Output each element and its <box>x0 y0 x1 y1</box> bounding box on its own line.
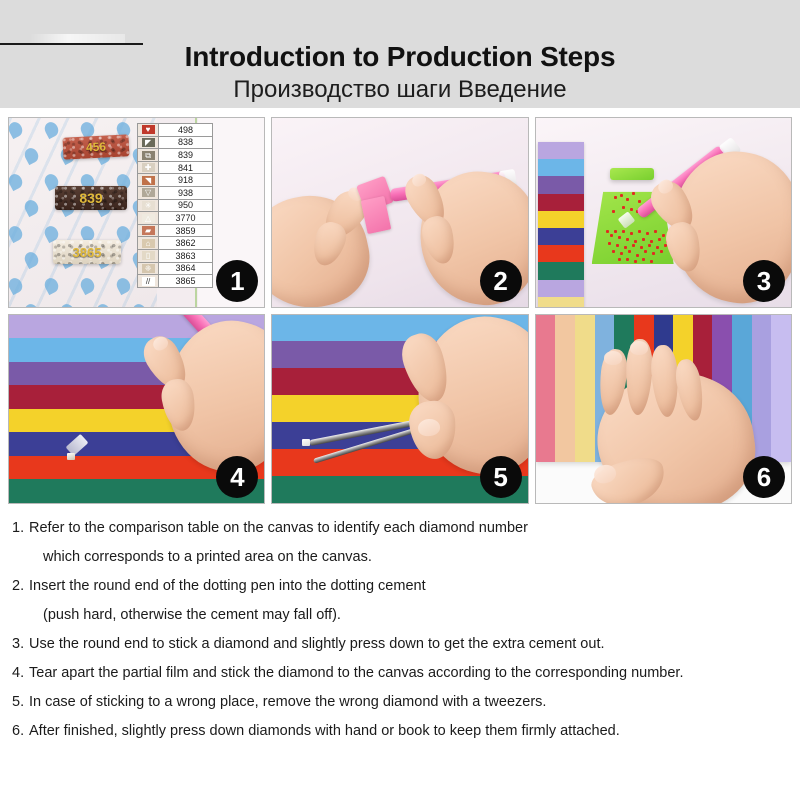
step-panel-2[interactable]: 2 <box>271 117 528 308</box>
red-diamond <box>606 230 609 233</box>
diamond-bag-3-label: 3865 <box>73 245 102 260</box>
red-diamond <box>620 194 623 197</box>
color-chart-row: ◥918 <box>137 174 212 187</box>
canvas-stripe <box>555 315 575 462</box>
canvas-stripe <box>752 315 772 462</box>
instruction-item: 2.Insert the round end of the dotting pe… <box>12 572 788 630</box>
instruction-number: 6. <box>12 717 29 746</box>
striped-canvas-small <box>538 142 584 307</box>
finger-2-nail <box>630 341 648 355</box>
instruction-line-1: Insert the round end of the dotting pen … <box>29 572 426 601</box>
color-symbol-cell: ▯ <box>137 249 159 262</box>
diamond-tray-lip <box>610 168 654 180</box>
step-panel-1[interactable]: 456 839 3865 ♥498◤838⧉839✚841◥918▽938✳95… <box>8 117 265 308</box>
instruction-text: In case of sticking to a wrong place, re… <box>29 688 546 717</box>
color-number-cell: 839 <box>159 149 212 162</box>
color-swatch-icon: ✳ <box>142 201 155 210</box>
diamond-bag-3: 3865 <box>53 240 121 264</box>
red-diamond <box>616 244 619 247</box>
page-title-russian: Производство шаги Введение <box>0 75 800 105</box>
color-chart-row: △3770 <box>137 212 212 225</box>
red-diamond <box>634 240 637 243</box>
red-diamond <box>618 258 621 261</box>
red-diamond <box>626 238 629 241</box>
step-panel-5[interactable]: 5 <box>271 314 528 505</box>
film-watermark-icon <box>94 302 113 307</box>
film-watermark-icon <box>9 172 25 191</box>
color-swatch-icon: ❈ <box>142 264 155 273</box>
header-smudge-artifact <box>30 34 125 43</box>
red-diamond <box>620 252 623 255</box>
color-chart-row: ⌂3862 <box>137 237 212 250</box>
red-diamond <box>658 238 661 241</box>
film-watermark-icon <box>42 276 61 295</box>
color-number-cell: 3864 <box>159 262 212 275</box>
red-diamond <box>638 230 641 233</box>
step-badge-1: 1 <box>216 260 258 302</box>
red-diamond <box>632 192 635 195</box>
red-diamond <box>622 206 625 209</box>
red-diamond <box>608 242 611 245</box>
film-watermark-icon <box>9 120 25 139</box>
film-watermark-icon <box>130 302 149 307</box>
film-watermark-icon <box>22 146 41 165</box>
red-diamond <box>626 258 629 261</box>
color-symbol-cell: ▰ <box>137 224 159 237</box>
film-watermark-icon <box>9 276 25 295</box>
color-number-cell: 838 <box>159 136 212 149</box>
canvas-stripe <box>538 280 584 297</box>
color-number-cell: 3863 <box>159 249 212 262</box>
red-diamond <box>614 230 617 233</box>
film-watermark-icon <box>22 198 41 217</box>
color-swatch-icon: ⌂ <box>142 239 155 248</box>
color-chart-row: ▯3863 <box>137 249 212 262</box>
color-chart-row: ✚841 <box>137 161 212 174</box>
color-chart-row: ▰3859 <box>137 224 212 237</box>
diamond-bag-2: 839 <box>55 186 127 210</box>
red-diamond <box>630 232 633 235</box>
instruction-text: Use the round end to stick a diamond and… <box>29 630 605 659</box>
red-diamond <box>624 246 627 249</box>
canvas-stripe <box>538 211 584 228</box>
color-swatch-icon: ⧉ <box>142 151 155 160</box>
canvas-stripe <box>538 297 584 307</box>
red-diamond <box>636 254 639 257</box>
red-diamond <box>610 234 613 237</box>
step-badge-5: 5 <box>480 456 522 498</box>
instruction-line-1: Refer to the comparison table on the can… <box>29 514 528 543</box>
color-symbol-cell: ⌂ <box>137 237 159 250</box>
instruction-item: 1.Refer to the comparison table on the c… <box>12 514 788 572</box>
color-symbol-cell: ◤ <box>137 136 159 149</box>
film-watermark-icon <box>114 276 133 295</box>
color-symbol-cell: ▽ <box>137 186 159 199</box>
instruction-number: 1. <box>12 514 29 543</box>
instruction-number: 4. <box>12 659 29 688</box>
red-diamond <box>642 258 645 261</box>
color-symbol-cell: ✳ <box>137 199 159 212</box>
instruction-item: 4.Tear apart the partial film and stick … <box>12 659 788 688</box>
red-diamond <box>630 208 633 211</box>
color-chart-row: ▽938 <box>137 186 212 199</box>
red-diamond <box>626 198 629 201</box>
red-diamond <box>650 240 653 243</box>
color-swatch-icon: ▰ <box>142 226 155 235</box>
canvas-stripe <box>575 315 595 462</box>
canvas-stripe <box>538 176 584 193</box>
instruction-line-1: After finished, slightly press down diam… <box>29 717 620 746</box>
color-number-cell: 3770 <box>159 212 212 225</box>
instruction-text: Insert the round end of the dotting pen … <box>29 572 426 630</box>
red-diamond <box>612 250 615 253</box>
color-number-cell: 950 <box>159 199 212 212</box>
instruction-number: 2. <box>12 572 29 601</box>
red-diamond <box>656 246 659 249</box>
instruction-text: Refer to the comparison table on the can… <box>29 514 528 572</box>
red-diamond <box>642 238 645 241</box>
instructions-list: 1.Refer to the comparison table on the c… <box>0 504 800 746</box>
red-diamond <box>618 236 621 239</box>
color-number-cell: 918 <box>159 174 212 187</box>
instruction-line-1: In case of sticking to a wrong place, re… <box>29 688 546 717</box>
red-diamond <box>634 260 637 263</box>
step-badge-3: 3 <box>743 260 785 302</box>
red-diamond <box>612 210 615 213</box>
diamond-bag-2-label: 839 <box>79 190 102 206</box>
film-watermark-icon <box>22 302 41 307</box>
color-symbol-cell: △ <box>137 212 159 225</box>
color-chart-row: //3865 <box>137 275 212 288</box>
header-rule-artifact <box>0 43 143 45</box>
finger-1-nail <box>604 351 622 365</box>
color-number-cell: 3859 <box>159 224 212 237</box>
color-symbol-cell: ❈ <box>137 262 159 275</box>
color-swatch-icon: ◥ <box>142 176 155 185</box>
color-number-cell: 3865 <box>159 275 212 288</box>
color-number-cell: 841 <box>159 161 212 174</box>
red-diamond <box>640 246 643 249</box>
canvas-stripe <box>538 262 584 279</box>
instruction-line-1: Use the round end to stick a diamond and… <box>29 630 605 659</box>
canvas-stripe <box>538 194 584 211</box>
instruction-line-2: (push hard, otherwise the cement may fal… <box>29 601 426 630</box>
color-chart-row: ❈3864 <box>137 262 212 275</box>
film-watermark-icon <box>9 224 25 243</box>
color-swatch-icon: △ <box>142 214 155 223</box>
instruction-item: 3.Use the round end to stick a diamond a… <box>12 630 788 659</box>
red-diamond <box>660 250 663 253</box>
step-panel-4[interactable]: 4 <box>8 314 265 505</box>
canvas-stripe <box>536 315 556 462</box>
instruction-line-1: Tear apart the partial film and stick th… <box>29 659 683 688</box>
instruction-number: 5. <box>12 688 29 717</box>
instruction-number: 3. <box>12 630 29 659</box>
instruction-text: After finished, slightly press down diam… <box>29 717 620 746</box>
color-swatch-icon: ◤ <box>142 138 155 147</box>
canvas-stripe <box>538 159 584 176</box>
diamond-bag-1: 456 <box>62 134 129 159</box>
instruction-text: Tear apart the partial film and stick th… <box>29 659 683 688</box>
color-swatch-icon: ✚ <box>142 163 155 172</box>
red-diamond <box>628 250 631 253</box>
diamond-held-by-tweezers <box>302 439 310 446</box>
step-panel-3[interactable]: 3 <box>535 117 792 308</box>
red-diamond <box>652 252 655 255</box>
color-number-cell: 3862 <box>159 237 212 250</box>
canvas-stripe <box>771 315 791 462</box>
red-diamond <box>614 196 617 199</box>
red-diamond <box>632 244 635 247</box>
red-diamond <box>654 230 657 233</box>
color-swatch-icon: // <box>142 277 155 286</box>
color-number-cell: 498 <box>159 124 212 137</box>
color-chart-row: ◤838 <box>137 136 212 149</box>
diamond-on-tip <box>67 453 75 460</box>
film-watermark-icon <box>42 120 61 139</box>
step-badge-6: 6 <box>743 456 785 498</box>
film-watermark-icon <box>78 276 97 295</box>
color-swatch-icon: ▯ <box>142 251 155 260</box>
step-badge-2: 2 <box>480 260 522 302</box>
red-diamond <box>662 234 665 237</box>
step-panel-6[interactable]: 6 <box>535 314 792 505</box>
canvas-stripe <box>538 228 584 245</box>
color-swatch-icon: ▽ <box>142 188 155 197</box>
page-header: Introduction to Production Steps Произво… <box>0 0 800 108</box>
instruction-item: 5.In case of sticking to a wrong place, … <box>12 688 788 717</box>
color-chart-row: ⧉839 <box>137 149 212 162</box>
instruction-line-2: which corresponds to a printed area on t… <box>29 543 528 572</box>
color-swatch-icon: ♥ <box>142 125 155 134</box>
color-comparison-table: ♥498◤838⧉839✚841◥918▽938✳950△3770▰3859⌂3… <box>137 123 213 288</box>
color-symbol-cell: ✚ <box>137 161 159 174</box>
red-diamond <box>646 232 649 235</box>
red-diamond <box>644 250 647 253</box>
film-watermark-icon <box>58 302 77 307</box>
color-symbol-cell: ♥ <box>137 124 159 137</box>
canvas-stripe <box>538 245 584 262</box>
color-chart-row: ♥498 <box>137 124 212 137</box>
steps-image-grid: 456 839 3865 ♥498◤838⧉839✚841◥918▽938✳95… <box>0 108 800 504</box>
red-diamond <box>650 260 653 263</box>
color-number-cell: 938 <box>159 186 212 199</box>
canvas-stripe <box>538 142 584 159</box>
red-diamond <box>638 200 641 203</box>
instruction-item: 6.After finished, slightly press down di… <box>12 717 788 746</box>
red-diamond <box>648 244 651 247</box>
color-chart-row: ✳950 <box>137 199 212 212</box>
diamond-bag-1-label: 456 <box>86 139 107 154</box>
color-symbol-cell: ⧉ <box>137 149 159 162</box>
color-symbol-cell: // <box>137 275 159 288</box>
red-diamond <box>622 230 625 233</box>
film-watermark-icon <box>22 250 41 269</box>
color-symbol-cell: ◥ <box>137 174 159 187</box>
